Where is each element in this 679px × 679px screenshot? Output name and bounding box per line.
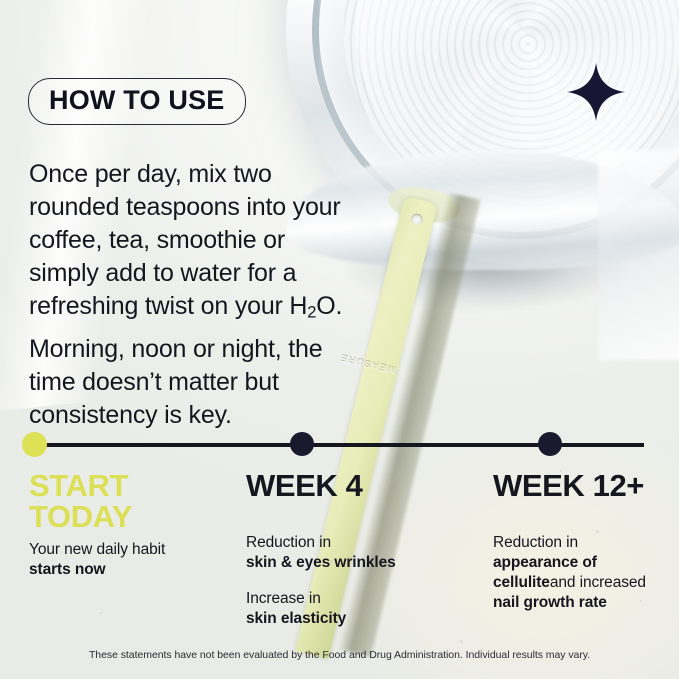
benefit-light: Your new daily habit — [29, 541, 165, 558]
benefit-light: Reduction in — [493, 534, 578, 551]
benefit-item: Your new daily habitstarts now — [29, 540, 229, 580]
timeline-body-start: Your new daily habitstarts now — [29, 540, 229, 580]
benefit-item: Increase inskin elasticity — [246, 589, 461, 629]
timeline-column-week-12: WEEK 12+ Reduction inappearance of cellu… — [493, 470, 673, 613]
timeline-title-week-12: WEEK 12+ — [493, 470, 673, 501]
timeline-dot-week-12 — [538, 432, 562, 456]
timeline-title-week-4: WEEK 4 — [246, 470, 461, 501]
instructions-p1-suffix: O. — [316, 292, 342, 320]
benefit-bold: skin & eyes wrinkles — [246, 554, 396, 571]
benefit-item: Reduction inskin & eyes wrinkles — [246, 533, 461, 573]
instructions-paragraph-1: Once per day, mix two rounded teaspoons … — [29, 158, 347, 330]
timeline-column-start: START TODAY Your new daily habitstarts n… — [29, 470, 229, 580]
benefit-bold: skin elasticity — [246, 610, 346, 627]
benefit-light: Reduction in — [246, 534, 331, 551]
benefit-light-2: and increased — [550, 574, 646, 591]
benefit-light: Increase in — [246, 590, 321, 607]
benefit-item: Reduction inappearance of celluliteand i… — [493, 533, 673, 613]
infographic-canvas: MEASURE HOW TO USE Once per day, mix two… — [0, 0, 679, 679]
instructions-paragraph-2: Morning, noon or night, the time doesn’t… — [29, 333, 329, 432]
timeline-column-week-4: WEEK 4 Reduction inskin & eyes wrinkles … — [246, 470, 461, 629]
timeline-dot-week-4 — [290, 432, 314, 456]
benefit-bold: starts now — [29, 561, 106, 578]
benefit-bold-2: nail growth rate — [493, 594, 607, 611]
timeline-body-week-12: Reduction inappearance of celluliteand i… — [493, 533, 673, 613]
instructions-p1-prefix: Once per day, mix two rounded teaspoons … — [29, 160, 341, 320]
fda-disclaimer: These statements have not been evaluated… — [0, 648, 679, 662]
timeline-title-start: START TODAY — [29, 470, 229, 532]
how-to-use-badge: HOW TO USE — [28, 78, 246, 125]
timeline-dot-start — [22, 432, 47, 457]
content-layer: HOW TO USE Once per day, mix two rounded… — [0, 0, 679, 679]
timeline-body-week-4: Reduction inskin & eyes wrinkles Increas… — [246, 533, 461, 629]
instructions-p1-subscript: 2 — [307, 304, 316, 322]
